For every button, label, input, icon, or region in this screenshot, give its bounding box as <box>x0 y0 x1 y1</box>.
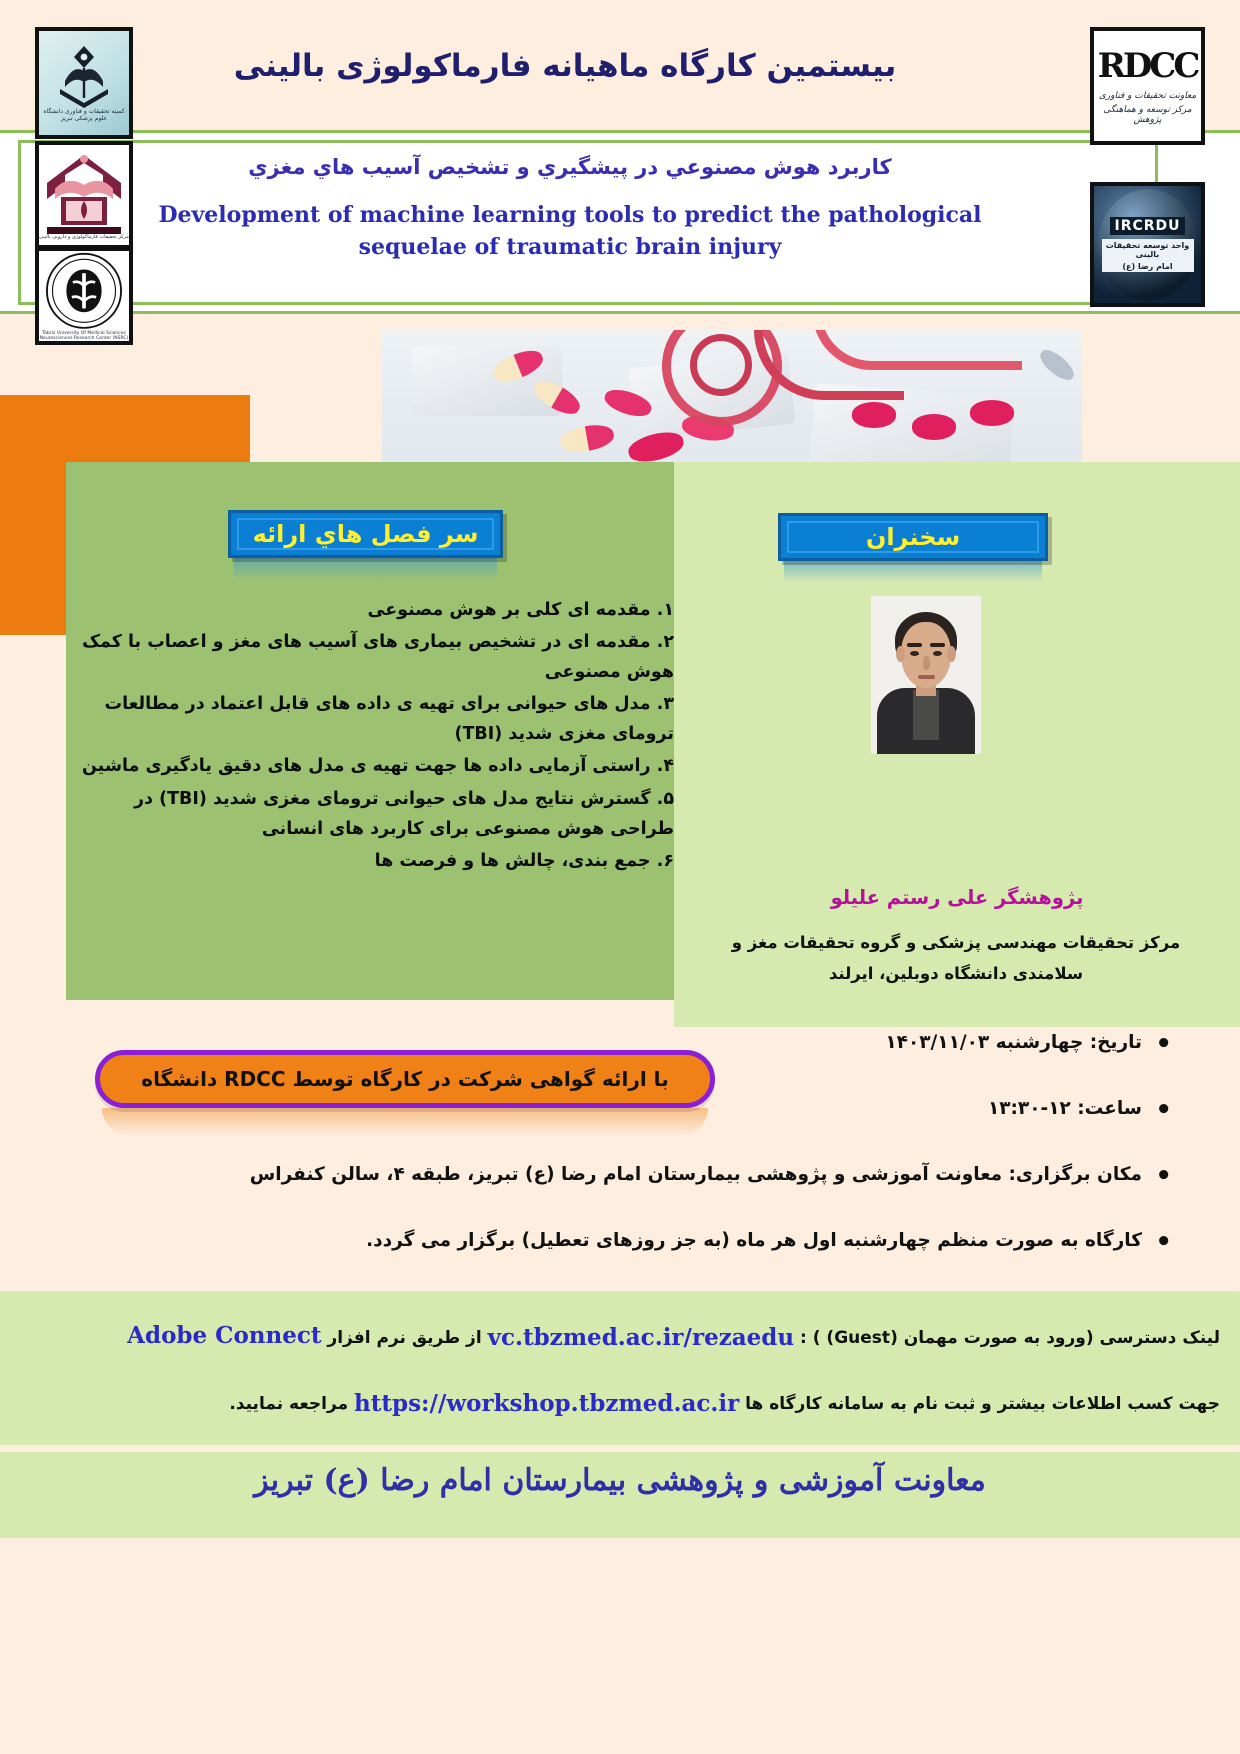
nsrc-logo: Tabriz University Of Medical Sciences Ne… <box>35 247 133 345</box>
outline-item-text: مدل های حیوانی برای تهیه ی داده های قابل… <box>105 694 675 744</box>
outline-item-number: ۴. <box>657 756 674 776</box>
certificate-label: با ارائه گواهی شرکت در کارگاه توسط RDCC … <box>141 1067 668 1091</box>
speaker-ribbon-label: سخنران <box>866 523 960 551</box>
green-rule-top <box>0 130 1240 133</box>
vc-url-link[interactable]: vc.tbzmed.ac.ir/rezaedu <box>488 1324 795 1351</box>
outline-list: ۱. مقدمه ای کلی بر هوش مصنوعی ۲. مقدمه ا… <box>74 595 674 878</box>
certificate-reflection <box>102 1108 708 1136</box>
outline-item-number: ۱. <box>657 600 674 620</box>
workshop-url-link[interactable]: https://workshop.tbzmed.ac.ir <box>354 1390 739 1417</box>
ircrdu-left-logo-caption: مرکز تحقیقات فارماکولوژی و دارویی بالینی <box>39 235 129 241</box>
outline-ribbon: سر فصل هاي ارائه <box>228 510 503 558</box>
green-rule-bottom <box>0 311 1240 314</box>
outline-ribbon-label: سر فصل هاي ارائه <box>253 520 479 548</box>
outline-item-number: ۶. <box>657 851 674 871</box>
speaker-ribbon-glow <box>784 561 1042 583</box>
footer-organizer: معاونت آموزشی و پژوهشی بیمارستان امام رض… <box>0 1463 1240 1498</box>
certificate-badge: با ارائه گواهی شرکت در کارگاه توسط RDCC … <box>95 1050 715 1108</box>
ircrdu-pharmacology-logo: مرکز تحقیقات فارماکولوژی و دارویی بالینی <box>35 141 133 249</box>
outline-item-text: جمع بندی، چالش ها و فرصت ها <box>375 851 651 871</box>
info-link-prefix: جهت کسب اطلاعات بیشتر و ثبت نام به سامان… <box>745 1394 1220 1414</box>
outline-item-text: مقدمه ای کلی بر هوش مصنوعی <box>367 600 650 620</box>
speaker-avatar <box>871 596 981 754</box>
rdcc-acronym: RDCC <box>1098 46 1198 86</box>
list-item: ۵. گسترش نتایج مدل های حیوانی ترومای مغز… <box>74 784 674 844</box>
ircrdu-badge-logo: IRCRDU واحد توسعه تحقیقات بالینی امام رض… <box>1090 182 1205 307</box>
tabriz-logo-caption: کمیته تحقیقات و فناوری دانشگاه علوم پزشک… <box>39 109 129 123</box>
links-band <box>0 1291 1240 1445</box>
speaker-ribbon: سخنران <box>778 513 1048 561</box>
adobe-connect-label: Adobe Connect <box>127 1322 321 1349</box>
event-venue: مکان برگزاری: معاونت آموزشی و پژوهشی بیم… <box>50 1162 1180 1188</box>
outline-item-text: گسترش نتایج مدل های حیوانی ترومای مغزی ش… <box>134 789 674 839</box>
page-title: بیستمین کارگاه ماهیانه فارماکولوژی بالین… <box>170 48 960 84</box>
rdcc-line-1: معاونت تحقیقات و فناوری <box>1099 91 1196 101</box>
ircrdu-line-1: واحد توسعه تحقیقات بالینی <box>1102 239 1194 261</box>
access-link-prefix: لینک دسترسی (ورود به صورت مهمان (Guest) … <box>800 1328 1220 1348</box>
outline-item-text: راستی آزمایی داده ها جهت تهیه ی مدل های … <box>82 756 651 776</box>
info-link-suffix: مراجعه نمایید. <box>229 1394 348 1414</box>
ircrdu-line-2: امام رضا (ع) <box>1102 261 1194 272</box>
access-link-middle: از طریق نرم افزار <box>327 1328 481 1348</box>
info-link-line: جهت کسب اطلاعات بیشتر و ثبت نام به سامان… <box>20 1390 1220 1417</box>
list-item: ۴. راستی آزمایی داده ها جهت تهیه ی مدل ه… <box>74 751 674 781</box>
tabriz-research-deputy-logo: کمیته تحقیقات و فناوری دانشگاه علوم پزشک… <box>35 27 133 139</box>
speaker-name: پژوهشگر علی رستم علیلو <box>700 886 1214 909</box>
speaker-affiliation: مرکز تحقیقات مهندسی پزشکی و گروه تحقیقات… <box>698 928 1214 989</box>
event-schedule-note: کارگاه به صورت منظم چهارشنبه اول هر ماه … <box>50 1228 1180 1254</box>
outline-item-number: ۳. <box>657 694 674 714</box>
outline-item-number: ۵. <box>657 789 674 809</box>
list-item: ۳. مدل های حیوانی برای تهیه ی داده های ق… <box>74 689 674 749</box>
subtitle-english: Development of machine learning tools to… <box>150 200 990 264</box>
list-item: ۲. مقدمه ای در تشخیص بیماری های آسیب های… <box>74 627 674 687</box>
rdcc-logo: RDCC معاونت تحقیقات و فناوری مرکز توسعه … <box>1090 27 1205 145</box>
outline-ribbon-glow <box>234 558 497 580</box>
subtitle-persian: کاربرد هوش مصنوعي در پيشگيري و تشخيص آسي… <box>180 155 960 179</box>
nsrc-logo-caption: Tabriz University Of Medical Sciences Ne… <box>39 331 129 341</box>
list-item: ۶. جمع بندی، چالش ها و فرصت ها <box>74 846 674 876</box>
list-item: ۱. مقدمه ای کلی بر هوش مصنوعی <box>74 595 674 625</box>
rdcc-line-2: مرکز توسعه و هماهنگی پژوهش <box>1094 105 1201 126</box>
outline-item-text: مقدمه ای در تشخیص بیماری های آسیب های مغ… <box>82 632 674 682</box>
access-link-line: لینک دسترسی (ورود به صورت مهمان (Guest) … <box>20 1322 1220 1351</box>
outline-item-number: ۲. <box>657 632 674 652</box>
ircrdu-acronym: IRCRDU <box>1110 217 1184 235</box>
